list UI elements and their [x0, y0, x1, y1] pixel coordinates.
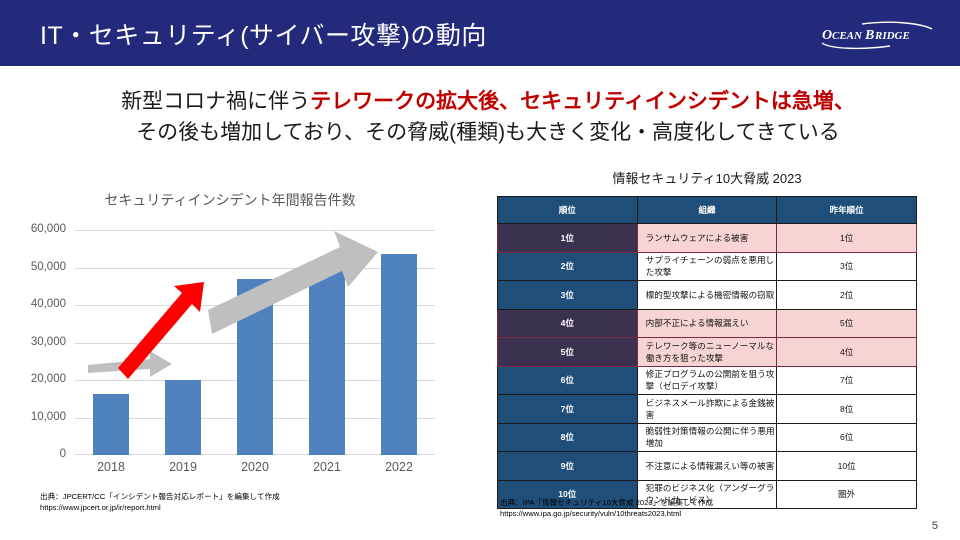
subtitle-block: 新型コロナ禍に伴うテレワークの拡大後、セキュリティインシデントは急増、 その後も… [48, 86, 928, 148]
y-tick-label: 30,000 [0, 336, 66, 348]
bar-2018 [93, 394, 129, 456]
bar-2021 [309, 265, 345, 456]
table-title: 情報セキュリティ10大脅威 2023 [497, 168, 917, 187]
table-row: 7位 ビジネスメール詐欺による金銭被害 8位 [498, 395, 917, 424]
table-source-note: 出典：IPA「情報セキュリティ10大脅威 2023」を編集して作成 https:… [500, 498, 713, 519]
col-header-last-rank: 昨年順位 [777, 197, 917, 224]
table-row: 4位 内部不正による情報漏えい 5位 [498, 309, 917, 338]
y-tick-label: 40,000 [0, 298, 66, 310]
subtitle-plain-text: 新型コロナ禍に伴う [121, 90, 310, 113]
chart-source-line-2: https://www.jpcert.or.jp/ir/report.html [40, 503, 280, 514]
cell-threat: 修正プログラムの公開前を狙う攻撃（ゼロデイ攻撃） [637, 366, 777, 395]
slide-root: IT・セキュリティ(サイバー攻撃)の動向 O CEAN B RIDGE 新型コロ… [0, 0, 960, 540]
y-tick-label: 10,000 [0, 411, 66, 423]
y-tick-label: 60,000 [0, 223, 66, 235]
chart-source-note: 出典：JPCERT/CC「インシデント報告対応レポート」を編集して作成 http… [40, 492, 280, 513]
subtitle-line-1: 新型コロナ禍に伴うテレワークの拡大後、セキュリティインシデントは急増、 [48, 86, 928, 117]
cell-rank: 9位 [498, 452, 638, 481]
threats-table: 順位 組織 昨年順位 1位 ランサムウェアによる被害 1位 2位 サプライチェー… [497, 196, 917, 509]
x-tick-label: 2022 [363, 460, 435, 474]
table-source-line-2: https://www.ipa.go.jp/security/vuln/10th… [500, 509, 713, 520]
table-row: 3位 標的型攻撃による機密情報の窃取 2位 [498, 281, 917, 310]
cell-threat: 脆弱性対策情報の公開に伴う悪用増加 [637, 423, 777, 452]
cell-threat: テレワーク等のニューノーマルな働き方を狙った攻撃 [637, 338, 777, 367]
incident-bar-chart: セキュリティインシデント年間報告件数 60,000 50,000 40,000 … [0, 190, 470, 490]
cell-threat: サプライチェーンの弱点を悪用した攻撃 [637, 252, 777, 281]
gridline [75, 230, 435, 231]
col-header-rank: 順位 [498, 197, 638, 224]
cell-last-rank: 10位 [777, 452, 917, 481]
cell-rank: 8位 [498, 423, 638, 452]
table-header-row: 順位 組織 昨年順位 [498, 197, 917, 224]
x-tick-label: 2019 [147, 460, 219, 474]
cell-last-rank: 5位 [777, 309, 917, 338]
page-title: IT・セキュリティ(サイバー攻撃)の動向 [40, 16, 487, 52]
cell-last-rank: 圏外 [777, 480, 917, 509]
subtitle-line-2: その後も増加しており、その脅威(種類)も大きく変化・高度化してきている [48, 117, 928, 148]
cell-rank: 1位 [498, 224, 638, 253]
cell-threat: ランサムウェアによる被害 [637, 224, 777, 253]
table-row: 1位 ランサムウェアによる被害 1位 [498, 224, 917, 253]
subtitle-emphasis-text: テレワークの拡大後、セキュリティインシデントは急増、 [310, 90, 855, 113]
table-row: 6位 修正プログラムの公開前を狙う攻撃（ゼロデイ攻撃） 7位 [498, 366, 917, 395]
y-tick-label: 0 [0, 448, 66, 460]
cell-rank: 4位 [498, 309, 638, 338]
cell-threat: 標的型攻撃による機密情報の窃取 [637, 281, 777, 310]
table-row: 9位 不注意による情報漏えい等の被害 10位 [498, 452, 917, 481]
x-tick-label: 2020 [219, 460, 291, 474]
page-number: 5 [932, 520, 938, 532]
table-row: 2位 サプライチェーンの弱点を悪用した攻撃 3位 [498, 252, 917, 281]
svg-text:CEAN: CEAN [832, 30, 863, 42]
cell-last-rank: 6位 [777, 423, 917, 452]
table-row: 5位 テレワーク等のニューノーマルな働き方を狙った攻撃 4位 [498, 338, 917, 367]
y-tick-label: 50,000 [0, 261, 66, 273]
table-row: 8位 脆弱性対策情報の公開に伴う悪用増加 6位 [498, 423, 917, 452]
cell-rank: 7位 [498, 395, 638, 424]
cell-rank: 2位 [498, 252, 638, 281]
cell-last-rank: 8位 [777, 395, 917, 424]
svg-text:B: B [864, 28, 874, 43]
bar-2022 [381, 254, 417, 455]
table-source-line-1: 出典：IPA「情報セキュリティ10大脅威 2023」を編集して作成 [500, 498, 713, 509]
chart-title: セキュリティインシデント年間報告件数 [0, 190, 460, 210]
cell-rank: 3位 [498, 281, 638, 310]
cell-last-rank: 1位 [777, 224, 917, 253]
cell-last-rank: 7位 [777, 366, 917, 395]
cell-threat: 不注意による情報漏えい等の被害 [637, 452, 777, 481]
cell-rank: 6位 [498, 366, 638, 395]
cell-rank: 5位 [498, 338, 638, 367]
svg-text:RIDGE: RIDGE [874, 30, 910, 42]
chart-source-line-1: 出典：JPCERT/CC「インシデント報告対応レポート」を編集して作成 [40, 492, 280, 503]
cell-last-rank: 4位 [777, 338, 917, 367]
x-tick-label: 2021 [291, 460, 363, 474]
y-tick-label: 20,000 [0, 373, 66, 385]
cell-threat: 内部不正による情報漏えい [637, 309, 777, 338]
bar-2020 [237, 279, 273, 455]
svg-text:O: O [822, 28, 832, 43]
col-header-threat: 組織 [637, 197, 777, 224]
bar-2019 [165, 380, 201, 455]
cell-threat: ビジネスメール詐欺による金銭被害 [637, 395, 777, 424]
chart-plot-area [75, 230, 435, 455]
x-tick-label: 2018 [75, 460, 147, 474]
cell-last-rank: 2位 [777, 281, 917, 310]
oceanbridge-logo: O CEAN B RIDGE [816, 18, 938, 50]
cell-last-rank: 3位 [777, 252, 917, 281]
